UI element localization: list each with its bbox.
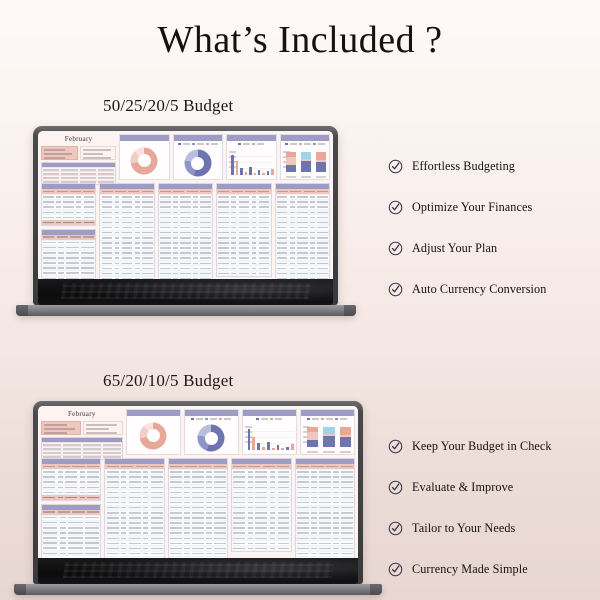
check-circle-icon [388, 282, 403, 297]
table-column [231, 458, 291, 558]
dashboard-top-row: February [41, 134, 330, 180]
check-circle-icon [388, 562, 403, 577]
kpi-card [41, 421, 81, 435]
donut-chart-blue [185, 416, 238, 454]
data-table [168, 458, 228, 558]
data-table [216, 183, 271, 277]
section-heading-1: 50/25/20/5 Budget [103, 96, 233, 116]
chart-card-income-donut [184, 409, 239, 455]
check-circle-icon [388, 159, 403, 174]
laptop-base [14, 584, 382, 595]
data-table [104, 458, 164, 558]
data-table [295, 458, 355, 558]
feature-label: Evaluate & Improve [412, 480, 513, 495]
dashboard-top-row: February [41, 409, 355, 455]
feature-item: Currency Made Simple [388, 549, 552, 590]
feature-label: Keep Your Budget in Check [412, 439, 552, 454]
feature-item: Auto Currency Conversion [388, 269, 546, 310]
table-column [158, 183, 213, 279]
feature-label: Currency Made Simple [412, 562, 528, 577]
table-column [168, 458, 228, 558]
laptop-lid: February [33, 401, 363, 584]
data-table [41, 504, 101, 558]
chart-card-budget-donut [126, 409, 181, 455]
laptop-mockup-1: February [33, 126, 338, 316]
spreadsheet-dashboard: February [38, 406, 358, 558]
check-circle-icon [388, 480, 403, 495]
kpi-row [41, 421, 123, 435]
page-title: What’s Included ? [0, 18, 600, 62]
data-table [99, 183, 154, 279]
laptop-base [16, 305, 356, 316]
feature-item: Optimize Your Finances [388, 187, 546, 228]
section-heading-2: 65/20/10/5 Budget [103, 371, 233, 391]
feature-label: Effortless Budgeting [412, 159, 515, 174]
data-table [231, 458, 291, 552]
laptop-lid: February [33, 126, 338, 305]
dashboard-tables-row [41, 183, 330, 279]
table-column [216, 183, 271, 279]
promo-page: What’s Included ? 50/25/20/5 Budget Febr… [0, 0, 600, 600]
table-column [104, 458, 164, 558]
chart-card-income-donut [173, 134, 223, 180]
kpi-card [83, 421, 123, 435]
feature-item: Tailor to Your Needs [388, 508, 552, 549]
kpi-row [41, 146, 116, 160]
feature-list-2: Keep Your Budget in Check Evaluate & Imp… [388, 426, 552, 590]
table-column [41, 183, 96, 279]
table-column [41, 458, 101, 558]
donut-chart-pink [127, 416, 180, 454]
donut-chart-pink [120, 141, 168, 179]
feature-list-1: Effortless Budgeting Optimize Your Finan… [388, 146, 546, 310]
feature-label: Adjust Your Plan [412, 241, 497, 256]
check-circle-icon [388, 521, 403, 536]
bar-chart [243, 416, 296, 454]
month-label: February [41, 409, 123, 419]
stacked-bar-chart [301, 416, 354, 454]
feature-item: Evaluate & Improve [388, 467, 552, 508]
laptop-screen: February [38, 131, 333, 279]
chart-card-stacked [300, 409, 355, 455]
table-column [295, 458, 355, 558]
data-table [275, 183, 330, 279]
summary-pane: February [41, 134, 116, 180]
chart-card-stacked [280, 134, 330, 180]
check-circle-icon [388, 241, 403, 256]
kpi-card [80, 146, 117, 160]
chart-cards [119, 134, 330, 180]
laptop-keyboard [38, 279, 333, 305]
data-table [41, 183, 96, 226]
spreadsheet-dashboard: February [38, 131, 333, 279]
donut-chart-blue [174, 141, 222, 179]
laptop-mockup-2: February [33, 401, 363, 595]
laptop-keyboard [38, 558, 358, 584]
feature-item: Adjust Your Plan [388, 228, 546, 269]
chart-card-bar [242, 409, 297, 455]
feature-item: Keep Your Budget in Check [388, 426, 552, 467]
bar-chart [227, 141, 275, 179]
laptop-screen: February [38, 406, 358, 558]
kpi-card [41, 146, 78, 160]
feature-label: Tailor to Your Needs [412, 521, 515, 536]
table-column [275, 183, 330, 279]
summary-table [41, 437, 123, 460]
summary-table [41, 162, 116, 185]
data-table [41, 229, 96, 279]
chart-cards [126, 409, 355, 455]
chart-card-bar [226, 134, 276, 180]
check-circle-icon [388, 439, 403, 454]
data-table [158, 183, 213, 279]
feature-item: Effortless Budgeting [388, 146, 546, 187]
data-table [41, 458, 101, 501]
table-column [99, 183, 154, 279]
month-label: February [41, 134, 116, 144]
dashboard-tables-row [41, 458, 355, 558]
chart-card-budget-donut [119, 134, 169, 180]
feature-label: Auto Currency Conversion [412, 282, 546, 297]
summary-pane: February [41, 409, 123, 455]
check-circle-icon [388, 200, 403, 215]
feature-label: Optimize Your Finances [412, 200, 532, 215]
stacked-bar-chart [281, 141, 329, 179]
